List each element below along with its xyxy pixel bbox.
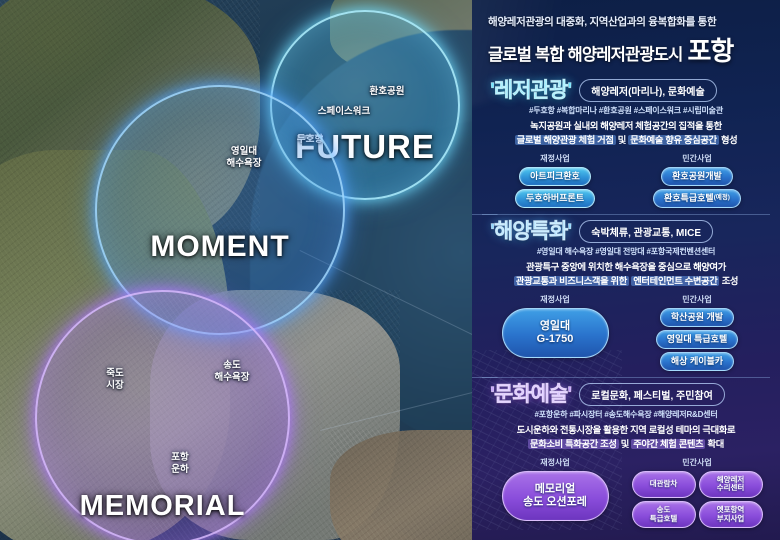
pill-note: (예정) (714, 195, 730, 202)
desc-plain-b: 및 (618, 135, 626, 145)
project-pill[interactable]: 해상 케이블카 (660, 352, 734, 371)
pill-line-1: 메모리얼 (535, 484, 575, 495)
project-pill[interactable]: 옛포항역 부지사업 (699, 501, 763, 528)
map-place-songdo-beach: 송도 해수욕장 (204, 360, 260, 384)
section-keywords: 해양레저(마리나), 문화예술 (579, 79, 716, 102)
desc-highlight-c: 문화예술 향유 중심공간 (628, 135, 719, 145)
column-private-projects: 민간사업 학산공원 개발 영일대 특급호텔 해상 케이블카 (626, 294, 768, 371)
desc-plain-b: 및 (621, 439, 629, 449)
column-header: 재정사업 (484, 153, 626, 164)
pill-line-2: G-1750 (537, 334, 574, 345)
column-public-projects: 재정사업 영일대 G-1750 (484, 294, 626, 371)
project-pill[interactable]: 환호특급호텔(예정) (653, 189, 741, 208)
desc-line-1: 녹지공원과 실내외 해양레저 체험공간의 집적을 통한 (484, 120, 768, 134)
desc-highlight-c: 엔터테인먼트 수변공간 (631, 276, 719, 286)
project-pill[interactable]: 두호하버프론트 (515, 189, 595, 208)
section-title: '문화예술' (490, 384, 571, 405)
pill-line-2: 송도 오션포레 (523, 497, 587, 508)
section-leisure-tourism: '레저관광' 해양레저(마리나), 문화예술 #두호항 #복합마리나 #환호공원… (482, 74, 770, 214)
desc-highlight-c: 주야간 체험 콘텐츠 (631, 439, 705, 449)
section-title: '레저관광' (490, 80, 571, 101)
project-pill[interactable]: 영일대 특급호텔 (656, 330, 738, 349)
project-pill[interactable]: 학산공원 개발 (660, 308, 734, 327)
column-header: 민간사업 (626, 153, 768, 164)
section-tags: #포항운하 #파시장터 #송도해수욕장 #해양레저R&D센터 (484, 409, 768, 420)
header-subtitle: 해양레저관광의 대중화, 지역산업과의 융복합화를 통한 (488, 14, 766, 29)
desc-plain-d: 확대 (708, 439, 724, 449)
section-marine-specialization: '해양특화' 숙박체류, 관광교통, MICE #영일대 해수욕장 #영일대 전… (482, 214, 770, 377)
desc-line-1: 관광특구 중앙에 위치한 해수욕장을 중심으로 해양여가 (484, 261, 768, 275)
header-title-main: 글로벌 복합 해양레저관광도시 (488, 41, 683, 65)
desc-line-2: 문화소비 특화공간 조성 및 주야간 체험 콘텐츠 확대 (484, 438, 768, 452)
project-pill[interactable]: 대관람차 (632, 471, 696, 498)
map-place-jukdo-market: 죽도 시장 (93, 368, 137, 392)
section-description: 녹지공원과 실내외 해양레저 체험공간의 집적을 통한 글로벌 해양관광 체험 … (484, 120, 768, 148)
section-description: 관광특구 중앙에 위치한 해수욕장을 중심으로 해양여가 관광교통과 비즈니스객… (484, 261, 768, 289)
poster-root: FUTURE 환호공원 스페이스워크 두호항 MOMENT 영일대 해수욕장 M… (0, 0, 780, 540)
desc-line-1: 도시운하와 전통시장을 활용한 지역 로컬성 테마의 극대화로 (484, 424, 768, 438)
desc-highlight-a: 관광교통과 비즈니스객을 위한 (514, 276, 629, 286)
section-keywords: 숙박체류, 관광교통, MICE (579, 220, 713, 243)
column-header: 민간사업 (626, 457, 768, 468)
desc-highlight-a: 글로벌 해양관광 체험 거점 (515, 135, 616, 145)
desc-line-2: 관광교통과 비즈니스객을 위한 엔터테인먼트 수변공간 조성 (484, 275, 768, 289)
column-private-projects: 민간사업 환호공원개발 환호특급호텔(예정) (626, 153, 768, 208)
flagship-project-pill[interactable]: 영일대 G-1750 (502, 308, 609, 358)
map-place-pohang-canal: 포항 운하 (158, 452, 202, 476)
map-place-space-walk: 스페이스워크 (300, 106, 388, 118)
pill-label: 환호특급호텔 (664, 194, 714, 203)
header-title-city: 포항 (688, 31, 734, 68)
column-public-projects: 재정사업 아트피크환호 두호하버프론트 (484, 153, 626, 208)
focus-label-moment: MOMENT (95, 230, 345, 264)
column-private-projects: 민간사업 대관람차 해양레저 수리센터 송도 특급호텔 옛포항역 부지사업 (626, 457, 768, 529)
satellite-map: FUTURE 환호공원 스페이스워크 두호항 MOMENT 영일대 해수욕장 M… (0, 0, 500, 540)
desc-line-2: 글로벌 해양관광 체험 거점 및 문화예술 향유 중심공간 형성 (484, 134, 768, 148)
map-focus-memorial[interactable]: MEMORIAL (35, 290, 290, 540)
desc-plain-d: 조성 (722, 276, 738, 286)
panel-header: 해양레저관광의 대중화, 지역산업과의 융복합화를 통한 글로벌 복합 해양레저… (482, 0, 770, 74)
pill-line-1: 영일대 (540, 321, 570, 332)
project-pill[interactable]: 아트피크환호 (519, 167, 591, 186)
info-panel: 해양레저관광의 대중화, 지역산업과의 융복합화를 통한 글로벌 복합 해양레저… (472, 0, 780, 540)
section-culture-arts: '문화예술' 로컬문화, 페스티벌, 주민참여 #포항운하 #파시장터 #송도해… (482, 377, 770, 534)
project-pill[interactable]: 송도 특급호텔 (632, 501, 696, 528)
desc-highlight-a: 문화소비 특화공간 조성 (528, 439, 619, 449)
flagship-project-pill[interactable]: 메모리얼 송도 오션포레 (502, 471, 609, 521)
section-tags: #두호항 #복합마리나 #환호공원 #스페이스워크 #시립미술관 (484, 105, 768, 116)
column-public-projects: 재정사업 메모리얼 송도 오션포레 (484, 457, 626, 529)
column-header: 재정사업 (484, 294, 626, 305)
section-tags: #영일대 해수욕장 #영일대 전망대 #포항국제컨벤션센터 (484, 246, 768, 257)
map-place-hwanho-park: 환호공원 (352, 86, 422, 98)
section-description: 도시운하와 전통시장을 활용한 지역 로컬성 테마의 극대화로 문화소비 특화공… (484, 424, 768, 452)
section-keywords: 로컬문화, 페스티벌, 주민참여 (579, 383, 725, 406)
desc-plain-d: 형성 (721, 135, 737, 145)
project-pill[interactable]: 해양레저 수리센터 (699, 471, 763, 498)
focus-label-memorial: MEMORIAL (35, 490, 290, 523)
column-header: 재정사업 (484, 457, 626, 468)
project-pill[interactable]: 환호공원개발 (661, 167, 733, 186)
column-header: 민간사업 (626, 294, 768, 305)
map-place-yeongildae-beach: 영일대 해수욕장 (208, 146, 280, 170)
section-title: '해양특화' (490, 221, 571, 242)
